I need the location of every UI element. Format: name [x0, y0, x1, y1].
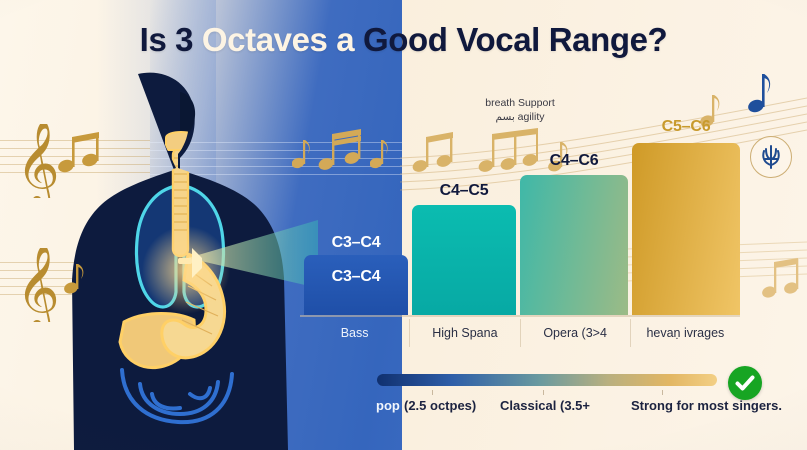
- infographic-canvas: Is 3 Octaves a Good Vocal Range?: [0, 0, 807, 450]
- vignette-overlay: [0, 0, 807, 450]
